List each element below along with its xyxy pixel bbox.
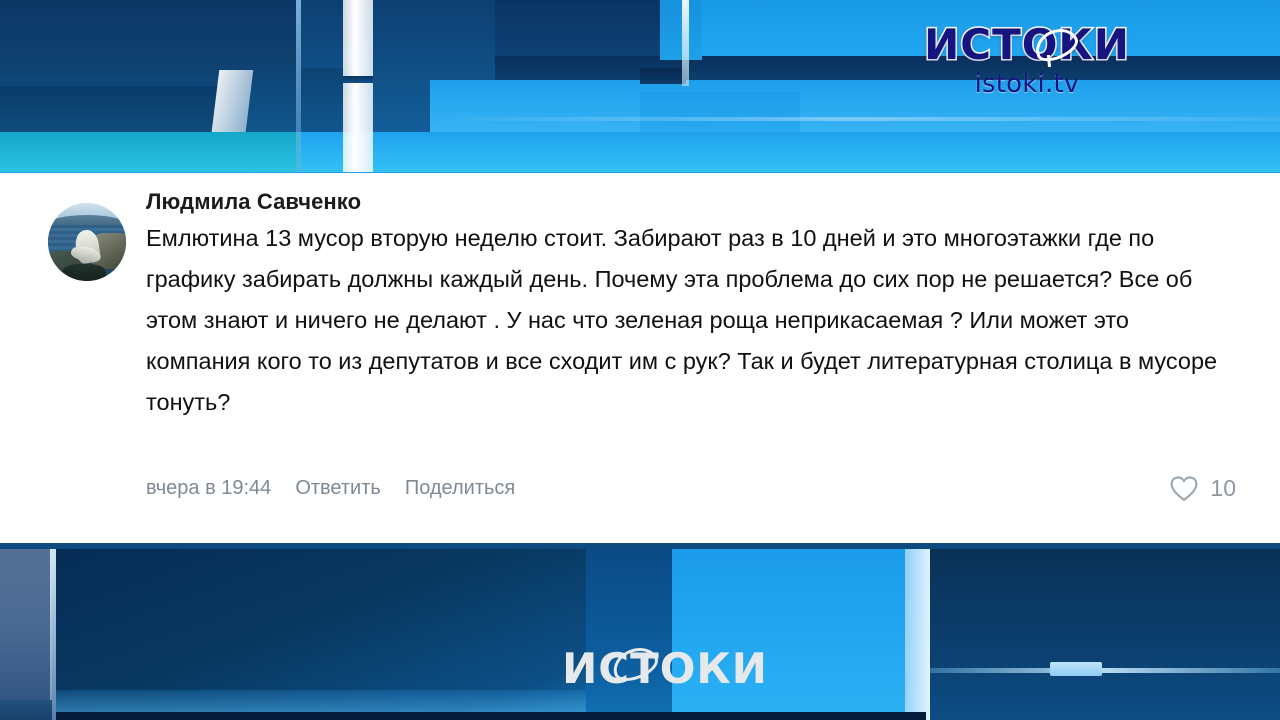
- like-group[interactable]: 10: [1169, 475, 1236, 502]
- bg-shape-top-notch-right: [640, 68, 686, 84]
- screen: ИСТОКИ istoki.tv Людмила Савченко Емлюти…: [0, 0, 1280, 720]
- bg-shape-bottom-mid: [586, 549, 672, 720]
- comment-author[interactable]: Людмила Савченко: [146, 189, 1250, 215]
- avatar[interactable]: [48, 203, 126, 281]
- comment-text: Емлютина 13 мусор вторую неделю стоит. З…: [146, 218, 1226, 423]
- bg-shape-top-streak: [430, 117, 1280, 121]
- bg-shape-bottom-left-strip: [0, 700, 52, 720]
- bg-shape-bottom-bright-edge: [905, 549, 933, 720]
- comment-body: Людмила Савченко Емлютина 13 мусор втору…: [146, 189, 1250, 543]
- bg-shape-bottom-right-line: [930, 668, 1280, 673]
- comment-card: Людмила Савченко Емлютина 13 мусор втору…: [0, 173, 1280, 543]
- bg-shape-top-white-bar-1: [343, 0, 373, 172]
- bg-shape-bottom-edge: [56, 712, 926, 720]
- reply-button[interactable]: Ответить: [295, 477, 381, 500]
- bg-shape-top-separator-1: [296, 0, 301, 172]
- bg-shape-bottom-right-dark: [930, 549, 1280, 720]
- channel-logo: ИСТОКИ istoki.tv: [922, 24, 1132, 99]
- bg-shape-top-mid-band-left: [0, 132, 300, 172]
- comment-footer: вчера в 19:44 Ответить Поделиться 10: [146, 477, 1236, 500]
- bg-shape-top-dark-band: [495, 56, 1280, 80]
- bg-shape-bottom-left-column: [0, 549, 52, 720]
- bg-shape-top-right-light-2: [430, 80, 1280, 132]
- comment-timestamp: вчера в 19:44: [146, 477, 271, 500]
- like-count: 10: [1210, 475, 1236, 502]
- bg-shape-top-bar-notch: [343, 76, 373, 83]
- bg-shape-top-white-bar-2: [682, 0, 689, 86]
- share-button[interactable]: Поделиться: [405, 477, 515, 500]
- heart-outline-icon[interactable]: [1169, 475, 1199, 502]
- bg-shape-top-square-right: [660, 0, 702, 60]
- bg-shape-bottom-bright: [672, 549, 930, 720]
- channel-logo-domain: istoki.tv: [922, 69, 1132, 99]
- channel-logo-wordmark: ИСТОКИ: [922, 24, 1132, 66]
- bg-shape-bottom-right-dash: [1050, 662, 1102, 676]
- comment: Людмила Савченко Емлютина 13 мусор втору…: [0, 173, 1280, 543]
- avatar-foreground: [62, 264, 106, 281]
